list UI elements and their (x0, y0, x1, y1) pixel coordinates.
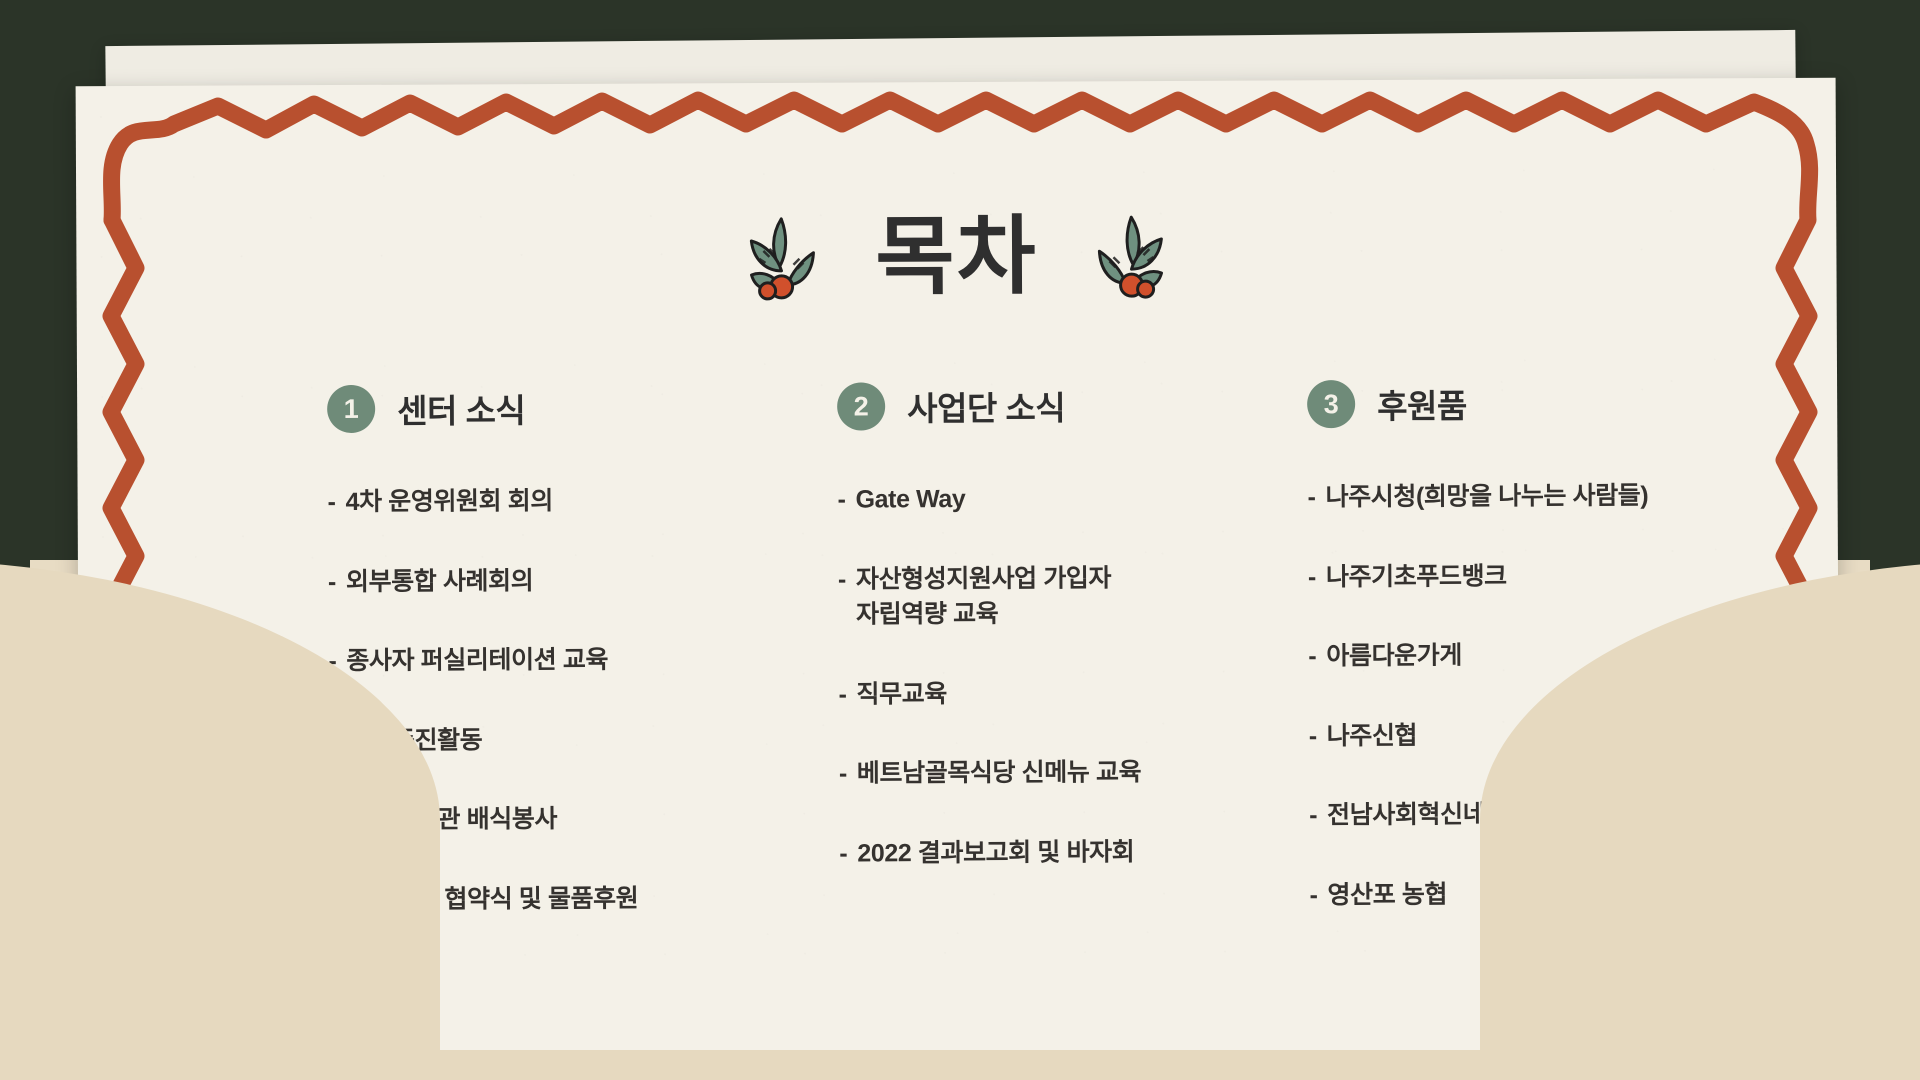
list-item: -노인복지관 배식봉사 (329, 801, 789, 839)
list-item-label: 베트남골목식당 신메뉴 교육 (857, 755, 1141, 792)
bullet-marker: - (328, 485, 336, 521)
list-item-label: 나주신협 (1327, 718, 1418, 754)
bullet-marker: - (1309, 798, 1317, 834)
berry-sprig-right-icon (1093, 211, 1177, 301)
list-item: -2022 결과보고회 및 바자회 (839, 834, 1259, 872)
list-item: -Gate Way (838, 481, 1258, 519)
bullet-marker: - (838, 562, 846, 633)
list-item: -체력증진활동 (329, 721, 789, 759)
list-item-label: 2022 결과보고회 및 바자회 (857, 835, 1134, 872)
bullet-marker: - (1308, 639, 1316, 675)
bullet-marker: - (329, 803, 337, 839)
toc-column-2-header: 2 사업단 소식 (837, 381, 1257, 431)
list-item: -나주시청(희망을 나누는 사람들) (1308, 478, 1808, 516)
bullet-marker: - (329, 883, 337, 919)
bullet-marker: - (1309, 878, 1317, 914)
bullet-marker: - (838, 677, 846, 713)
toc-column-2: 2 사업단 소식 -Gate Way -자산형성지원사업 가입자 자립역량 교육… (837, 381, 1260, 960)
toc-columns: 1 센터 소식 -4차 운영위원회 회의 -외부통합 사례회의 -종사자 퍼실리… (327, 378, 1810, 962)
bullet-marker: - (838, 483, 846, 519)
slide-canvas: 목차 1 센터 소식 (0, 0, 1920, 1080)
list-item-label: 나주기초푸드뱅크 (1326, 559, 1507, 595)
bullet-marker: - (839, 836, 847, 872)
list-item: -영산포 농협 (1309, 875, 1809, 913)
list-item-label: Gate Way (855, 482, 965, 518)
list-item-label: 자산형성지원사업 가입자 자립역량 교육 (856, 561, 1112, 633)
slide-content: 목차 1 센터 소식 (76, 78, 1841, 1077)
bullet-marker: - (328, 644, 336, 680)
toc-list-1: -4차 운영위원회 회의 -외부통합 사례회의 -종사자 퍼실리테이션 교육 -… (328, 483, 790, 918)
bullet-marker: - (839, 757, 847, 793)
list-item: -직무교육 (838, 675, 1258, 713)
title-row: 목차 (76, 208, 1836, 307)
toc-list-3: -나주시청(희망을 나누는 사람들) -나주기초푸드뱅크 -아름다운가게 -나주… (1308, 478, 1810, 913)
toc-column-1: 1 센터 소식 -4차 운영위원회 회의 -외부통합 사례회의 -종사자 퍼실리… (327, 383, 790, 962)
page-title: 목차 (875, 214, 1038, 301)
list-item: -가족센터 협약식 및 물품후원 (329, 880, 789, 918)
list-item: -전남사회혁신네트워크 (1309, 796, 1809, 834)
section-number-badge-2: 2 (837, 382, 885, 430)
bullet-marker: - (1308, 480, 1316, 516)
list-item-label: 아름다운가게 (1326, 639, 1462, 675)
list-item-label: 노인복지관 배식봉사 (347, 802, 557, 839)
bullet-marker: - (1308, 560, 1316, 596)
toc-list-2: -Gate Way -자산형성지원사업 가입자 자립역량 교육 -직무교육 -베… (838, 481, 1260, 872)
list-item: -나주기초푸드뱅크 (1308, 557, 1808, 595)
list-item: -아름다운가게 (1308, 637, 1808, 675)
toc-column-1-header: 1 센터 소식 (327, 383, 787, 433)
section-heading-3: 후원품 (1377, 380, 1467, 428)
list-item-label: 영산포 농협 (1327, 877, 1447, 913)
list-item: -나주신협 (1309, 716, 1809, 754)
section-heading-1: 센터 소식 (397, 384, 525, 433)
list-item-label: 직무교육 (856, 677, 947, 713)
list-item: -베트남골목식당 신메뉴 교육 (839, 755, 1259, 793)
list-item-label: 4차 운영위원회 회의 (345, 484, 553, 521)
list-item: -외부통합 사례회의 (328, 562, 788, 600)
list-item: -4차 운영위원회 회의 (328, 483, 788, 521)
list-item-label: 외부통합 사례회의 (346, 564, 534, 600)
berry-sprig-left-icon (735, 213, 819, 303)
list-item-label: 나주시청(희망을 나누는 사람들) (1325, 479, 1648, 516)
list-item-label: 가족센터 협약식 및 물품후원 (347, 881, 638, 918)
envelope-bottom-edge (0, 1050, 1920, 1080)
section-number-badge-1: 1 (327, 385, 375, 433)
list-item-label: 전남사회혁신네트워크 (1327, 797, 1553, 834)
list-item: -종사자 퍼실리테이션 교육 (328, 642, 788, 680)
section-heading-2: 사업단 소식 (907, 381, 1065, 430)
bullet-marker: - (329, 724, 337, 760)
list-item: -자산형성지원사업 가입자 자립역량 교육 (838, 560, 1258, 633)
toc-column-3: 3 후원품 -나주시청(희망을 나누는 사람들) -나주기초푸드뱅크 -아름다운… (1307, 378, 1810, 957)
list-item-label: 종사자 퍼실리테이션 교육 (346, 643, 608, 680)
bullet-marker: - (1309, 719, 1317, 755)
bullet-marker: - (328, 565, 336, 601)
list-item-label: 체력증진활동 (347, 723, 483, 759)
section-number-badge-3: 3 (1307, 380, 1355, 428)
toc-column-3-header: 3 후원품 (1307, 378, 1807, 428)
